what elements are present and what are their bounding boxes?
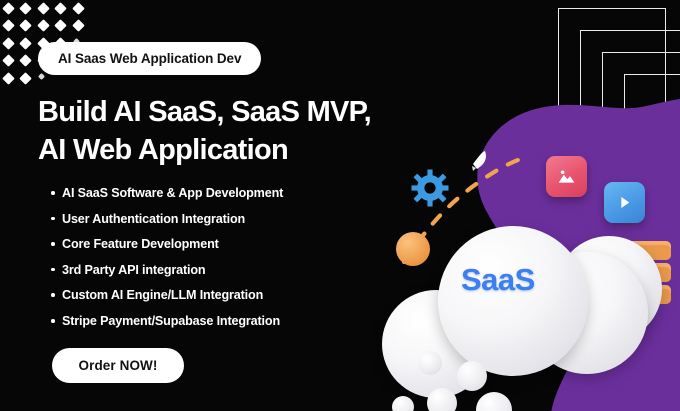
- feature-list: AI SaaS Software & App Development User …: [50, 186, 283, 340]
- headline-line-1: Build AI SaaS, SaaS MVP,: [38, 93, 438, 131]
- list-item: 3rd Party API integration: [50, 263, 283, 277]
- page-title: Build AI SaaS, SaaS MVP, AI Web Applicat…: [38, 93, 438, 170]
- list-item: Custom AI Engine/LLM Integration: [50, 288, 283, 302]
- eyebrow-badge: AI Saas Web Application Dev: [38, 42, 261, 75]
- content-column: AI Saas Web Application Dev Build AI Saa…: [0, 0, 420, 411]
- list-item: Stripe Payment/Supabase Integration: [50, 314, 283, 328]
- promo-banner: SaaS AI Saas Web Application Dev Build A…: [0, 0, 680, 411]
- purple-blob-shape: [400, 96, 680, 411]
- list-item: Core Feature Development: [50, 237, 283, 251]
- order-now-button[interactable]: Order NOW!: [52, 348, 184, 383]
- list-item: AI SaaS Software & App Development: [50, 186, 283, 200]
- list-item: User Authentication Integration: [50, 212, 283, 226]
- headline-line-2: AI Web Application: [38, 131, 438, 169]
